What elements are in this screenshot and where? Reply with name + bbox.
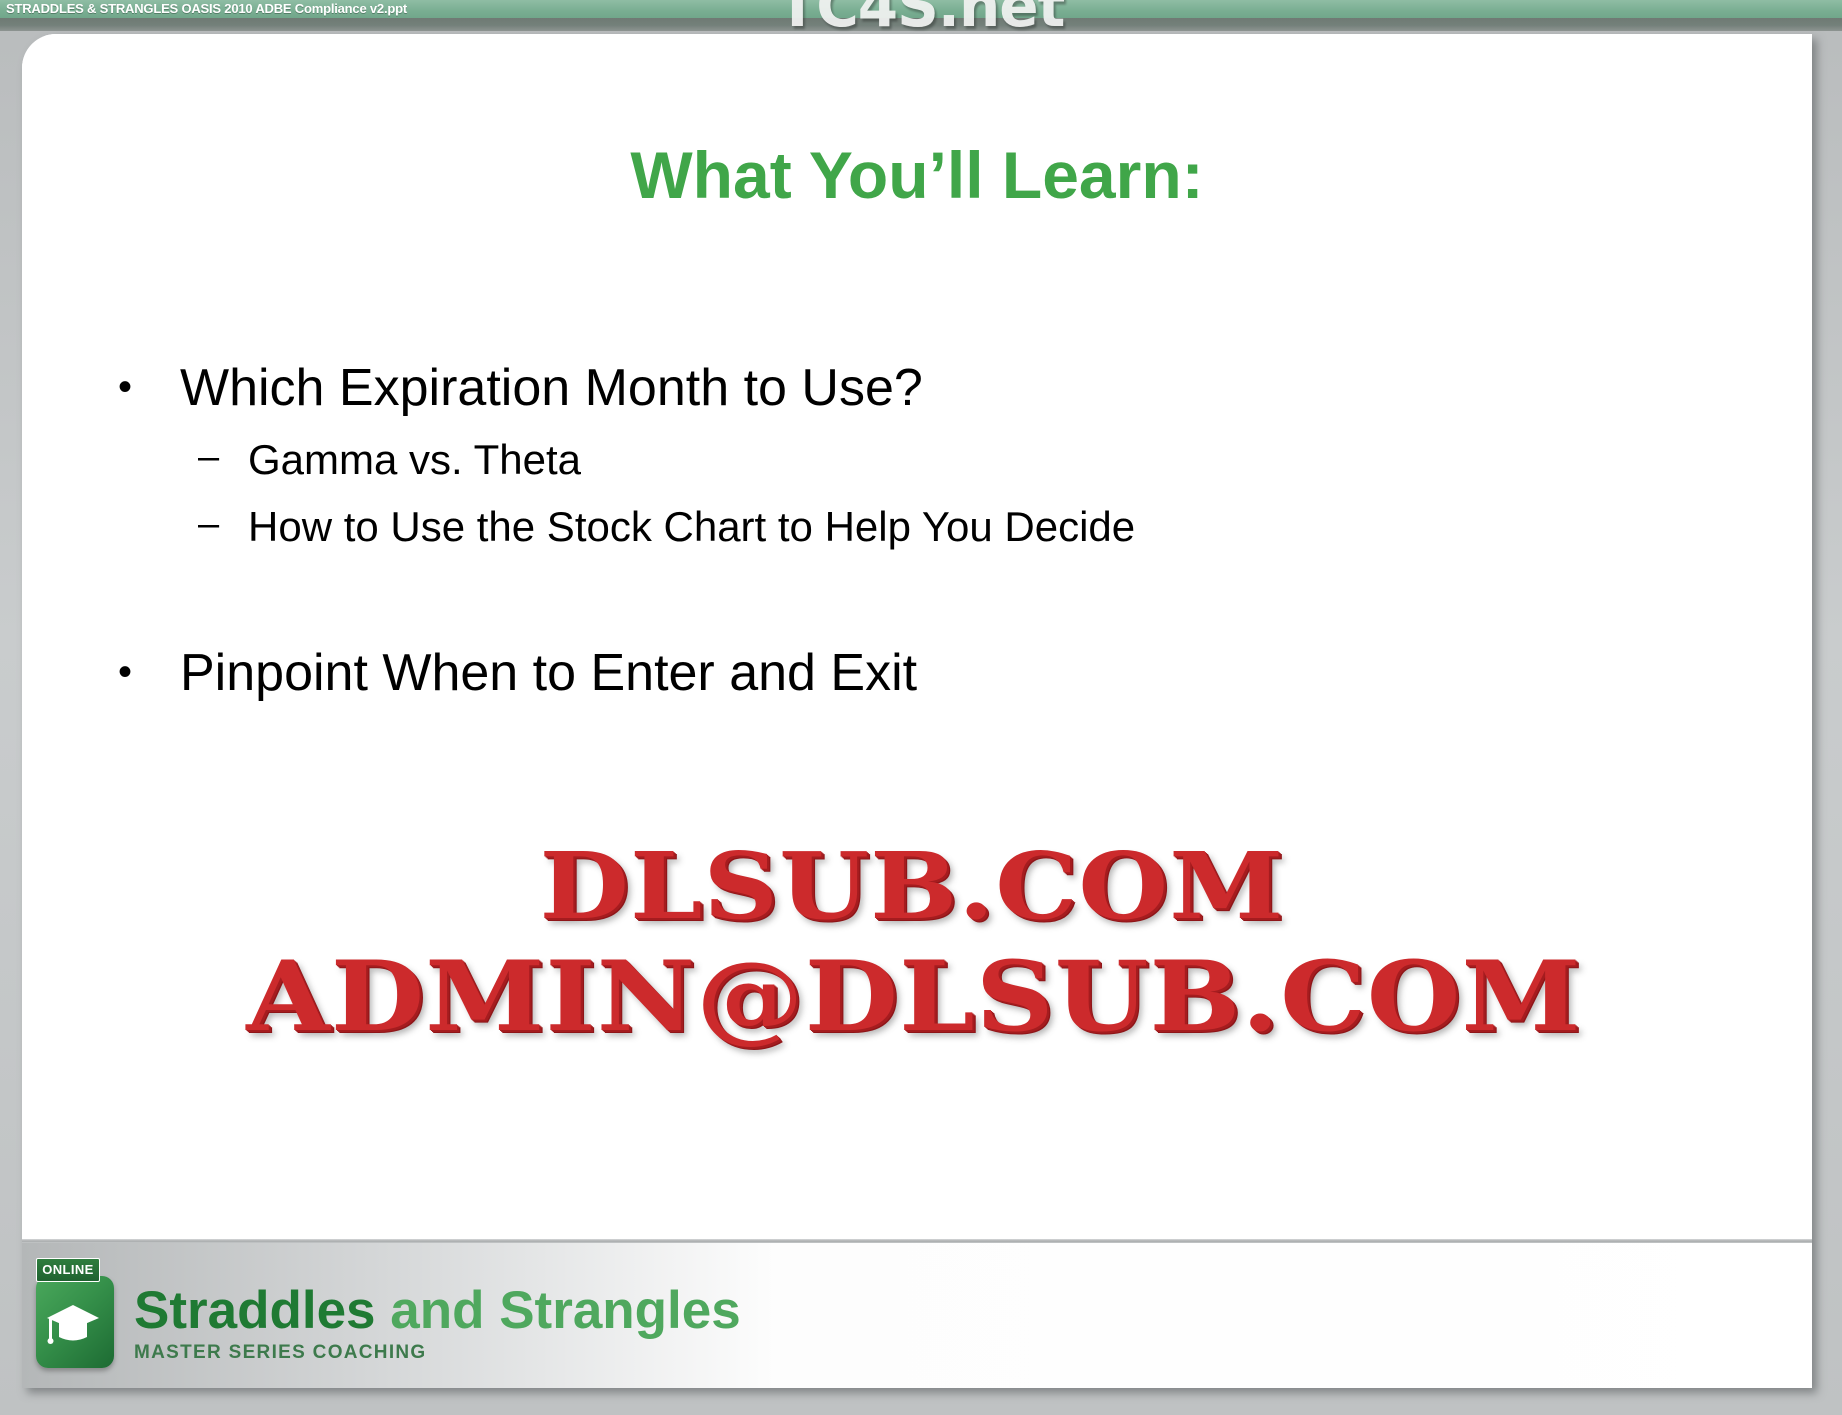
presentation-viewer: STRADDLES & STRANGLES OASIS 2010 ADBE Co… bbox=[0, 0, 1842, 1415]
online-badge-label: ONLINE bbox=[36, 1258, 100, 1282]
sub-bullet-item: – How to Use the Stock Chart to Help You… bbox=[118, 503, 1738, 551]
logo-text-block: Straddles and Strangles MASTER SERIES CO… bbox=[134, 1258, 741, 1364]
bullet-marker-icon: • bbox=[118, 359, 180, 415]
slide-page: What You’ll Learn: • Which Expiration Mo… bbox=[22, 34, 1812, 1388]
logo-word-primary: Straddles bbox=[134, 1281, 376, 1340]
sub-bullet-dash-icon: – bbox=[198, 503, 248, 546]
sub-bullet-item: – Gamma vs. Theta bbox=[118, 436, 1738, 484]
logo-wordmark: Straddles and Strangles bbox=[134, 1284, 741, 1338]
bullet-marker-icon: • bbox=[118, 644, 180, 700]
bullet-text: Pinpoint When to Enter and Exit bbox=[180, 644, 1738, 703]
logo-tagline: MASTER SERIES COACHING bbox=[134, 1342, 741, 1364]
brand-logo: ONLINE Straddles and Strangles bbox=[32, 1258, 741, 1370]
sub-bullet-text: How to Use the Stock Chart to Help You D… bbox=[248, 503, 1738, 551]
bullet-text: Which Expiration Month to Use? bbox=[180, 359, 1738, 418]
window-title-text: STRADDLES & STRANGLES OASIS 2010 ADBE Co… bbox=[6, 1, 407, 16]
bullet-item: • Pinpoint When to Enter and Exit bbox=[118, 644, 1738, 703]
bullet-group-spacer bbox=[118, 551, 1738, 644]
sub-bullet-dash-icon: – bbox=[198, 436, 248, 479]
sub-bullet-text: Gamma vs. Theta bbox=[248, 436, 1738, 484]
watermark-email-stamp: ADMIN@DLSUB.COM bbox=[22, 948, 1812, 1046]
bullet-list: • Which Expiration Month to Use? – Gamma… bbox=[118, 359, 1738, 711]
logo-word-secondary: and Strangles bbox=[376, 1281, 741, 1340]
window-titlebar: STRADDLES & STRANGLES OASIS 2010 ADBE Co… bbox=[0, 0, 1842, 18]
graduation-cap-icon bbox=[46, 1304, 100, 1349]
watermark-stamp-group: DLSUB.COM ADMIN@DLSUB.COM bbox=[22, 840, 1812, 1046]
slide-content-area: What You’ll Learn: • Which Expiration Mo… bbox=[22, 34, 1812, 1239]
slide-title: What You’ll Learn: bbox=[22, 137, 1812, 213]
watermark-site-stamp: DLSUB.COM bbox=[22, 840, 1812, 934]
bullet-item: • Which Expiration Month to Use? bbox=[118, 359, 1738, 418]
slide-footer: ONLINE Straddles and Strangles bbox=[22, 1243, 1812, 1388]
logo-badge: ONLINE bbox=[32, 1258, 110, 1370]
window-titlebar-strip bbox=[0, 18, 1842, 31]
